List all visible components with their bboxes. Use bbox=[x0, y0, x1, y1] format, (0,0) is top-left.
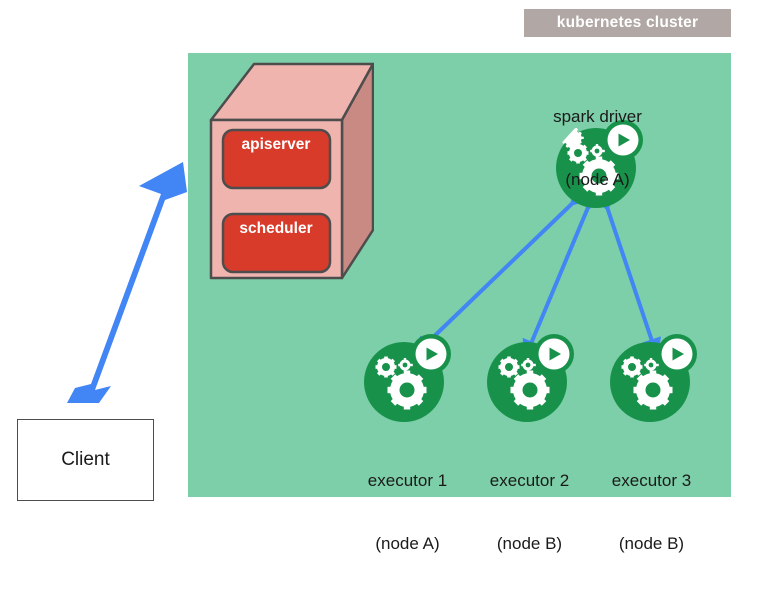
diagram-canvas: kubernetes cluster spark-submit Client a… bbox=[0, 0, 761, 516]
executor-2-node-icon bbox=[483, 328, 575, 426]
spark-driver-caption: spark driver (node A) bbox=[515, 64, 680, 232]
executor-1-node-icon bbox=[360, 328, 452, 426]
executor-3-caption-line2: (node B) bbox=[574, 533, 729, 554]
spark-submit-arrow bbox=[55, 160, 205, 405]
executor-3-node-icon bbox=[606, 328, 698, 426]
spark-driver-caption-line2: (node A) bbox=[515, 169, 680, 190]
spark-driver-caption-line1: spark driver bbox=[515, 106, 680, 127]
kubernetes-cluster-badge: kubernetes cluster bbox=[524, 9, 731, 37]
client-box: Client bbox=[17, 419, 154, 501]
client-label: Client bbox=[61, 449, 110, 471]
control-plane-cube bbox=[196, 62, 374, 280]
executor-3-caption: executor 3 (node B) bbox=[574, 428, 729, 596]
executor-3-caption-line1: executor 3 bbox=[574, 470, 729, 491]
